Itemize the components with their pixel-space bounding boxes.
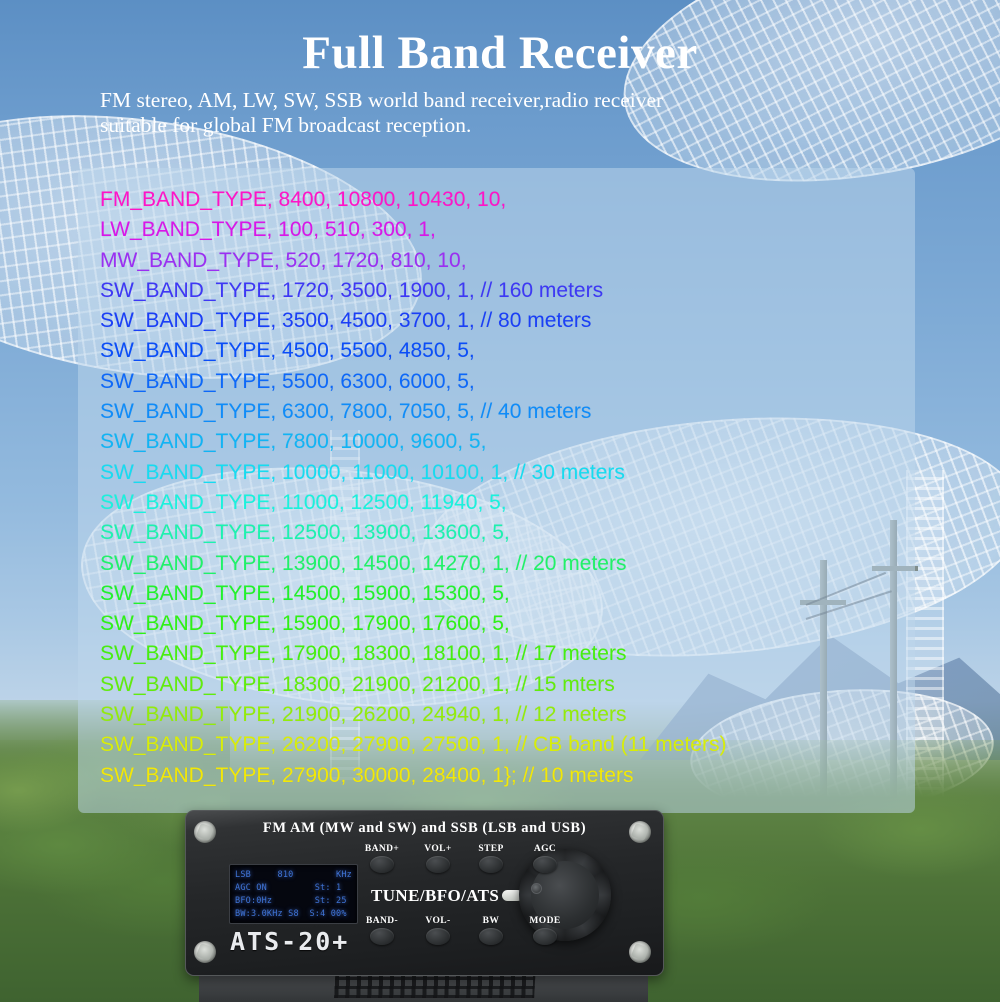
radio-display: LSB 810 KHz AGC ON St: 1 BFO:0Hz St: 25 … [229,864,358,924]
code-line: SW_BAND_TYPE, 17900, 18300, 18100, 1, //… [100,639,920,669]
button-band[interactable] [370,928,394,945]
display-line-2: AGC ON St: 1 [235,883,355,896]
code-line: SW_BAND_TYPE, 14500, 15900, 15300, 5, [100,579,920,609]
product-banner: Full Band Receiver FM stereo, AM, LW, SW… [0,0,1000,1002]
page-subtitle: FM stereo, AM, LW, SW, SSB world band re… [100,88,930,138]
screw-icon-bottom-right [629,941,651,963]
button-label-vol: VOL+ [416,844,460,854]
subtitle-line-1: FM stereo, AM, LW, SW, SSB world band re… [100,88,930,113]
display-line-4: BW:3.0KHz S8 S:4 00% [235,909,355,922]
code-line: SW_BAND_TYPE, 1720, 3500, 1900, 1, // 16… [100,276,920,306]
radio-device: FM AM (MW and SW) and SSB (LSB and USB) … [185,810,662,1002]
button-label-mode: MODE [523,916,567,926]
code-line: SW_BAND_TYPE, 6300, 7800, 7050, 5, // 40… [100,397,920,427]
band-definition-code: FM_BAND_TYPE, 8400, 10800, 10430, 10,LW_… [100,185,920,791]
button-agc[interactable] [533,856,557,873]
radio-model-name: ATS-20+ [230,927,349,956]
button-label-agc: AGC [523,844,567,854]
button-band[interactable] [370,856,394,873]
display-line-1: LSB 810 KHz [235,870,355,883]
code-line: SW_BAND_TYPE, 10000, 11000, 10100, 1, //… [100,458,920,488]
tune-bfo-ats-label: TUNE/BFO/ATS [371,886,499,906]
code-line: SW_BAND_TYPE, 13900, 14500, 14270, 1, //… [100,549,920,579]
button-label-bw: BW [469,916,513,926]
code-line: SW_BAND_TYPE, 4500, 5500, 4850, 5, [100,336,920,366]
button-label-step: STEP [469,844,513,854]
code-line: MW_BAND_TYPE, 520, 1720, 810, 10, [100,246,920,276]
radio-front-panel: FM AM (MW and SW) and SSB (LSB and USB) … [185,810,664,976]
radio-mode-label: FM AM (MW and SW) and SSB (LSB and USB) [186,820,663,837]
code-line: LW_BAND_TYPE, 100, 510, 300, 1, [100,215,920,245]
code-line: SW_BAND_TYPE, 27900, 30000, 28400, 1}; /… [100,761,920,791]
button-label-vol: VOL- [416,916,460,926]
code-line: SW_BAND_TYPE, 18300, 21900, 21200, 1, //… [100,670,920,700]
code-line: SW_BAND_TYPE, 11000, 12500, 11940, 5, [100,488,920,518]
code-line: SW_BAND_TYPE, 26200, 27900, 27500, 1, //… [100,730,920,760]
button-step[interactable] [479,856,503,873]
code-line: SW_BAND_TYPE, 3500, 4500, 3700, 1, // 80… [100,306,920,336]
code-line: SW_BAND_TYPE, 21900, 26200, 24940, 1, //… [100,700,920,730]
button-label-band: BAND- [360,916,404,926]
subtitle-line-2: suitable for global FM broadcast recepti… [100,113,930,138]
display-line-3: BFO:0Hz St: 25 [235,896,355,909]
button-bw[interactable] [479,928,503,945]
code-line: FM_BAND_TYPE, 8400, 10800, 10430, 10, [100,185,920,215]
code-line: SW_BAND_TYPE, 7800, 10000, 9600, 5, [100,427,920,457]
button-vol[interactable] [426,928,450,945]
code-line: SW_BAND_TYPE, 12500, 13900, 13600, 5, [100,518,920,548]
button-mode[interactable] [533,928,557,945]
button-vol[interactable] [426,856,450,873]
knob-dimple-icon [531,883,542,894]
button-label-band: BAND+ [360,844,404,854]
code-line: SW_BAND_TYPE, 5500, 6300, 6000, 5, [100,367,920,397]
page-title: Full Band Receiver [0,26,1000,80]
code-line: SW_BAND_TYPE, 15900, 17900, 17600, 5, [100,609,920,639]
screw-icon-bottom-left [194,941,216,963]
